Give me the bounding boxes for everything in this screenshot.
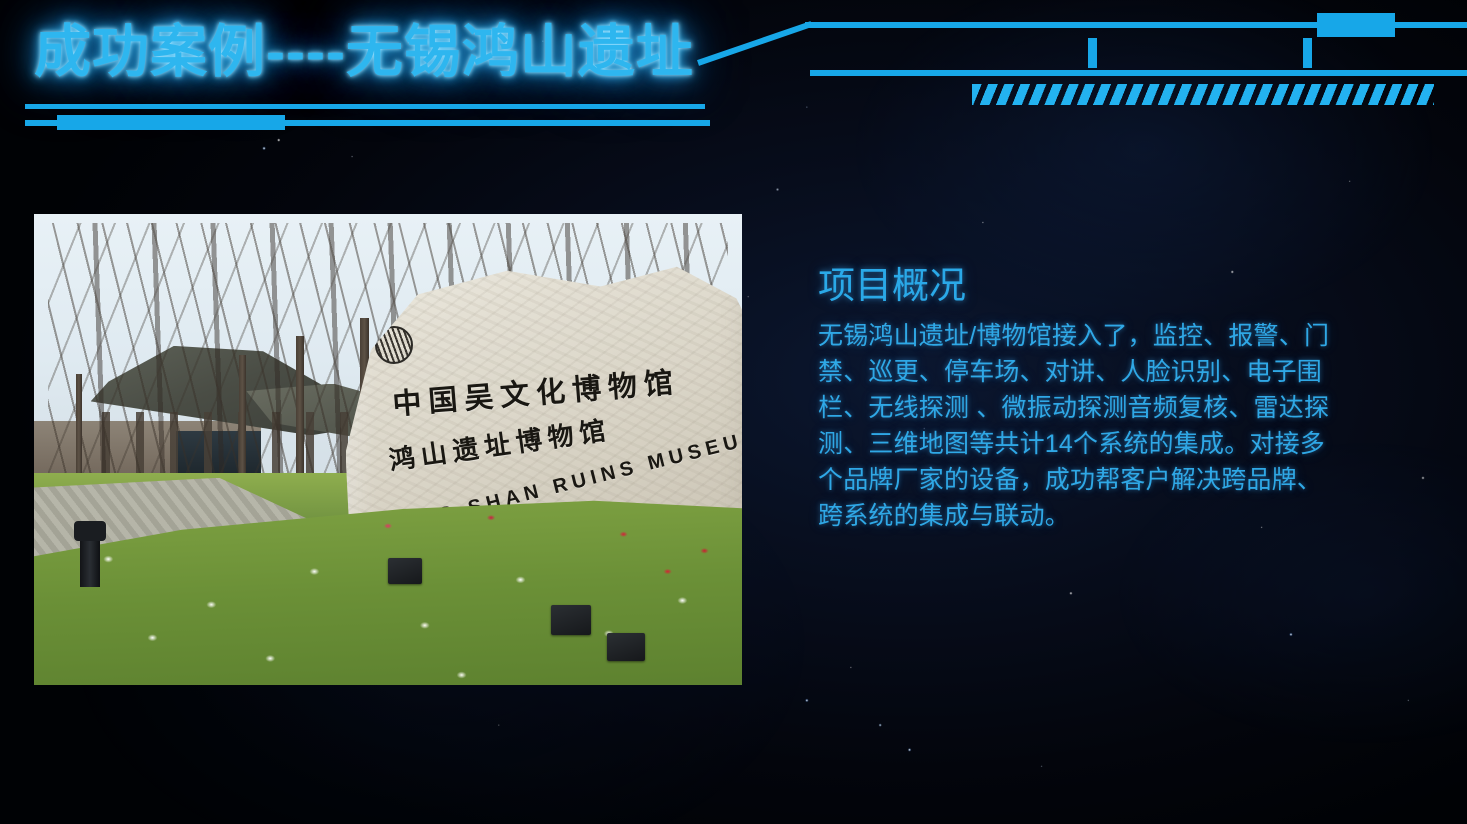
header-tick-mark-2: [1303, 38, 1312, 68]
photo-ground-speaker: [551, 605, 591, 635]
panel-body-text: 无锡鸿山遗址/博物馆接入了，监控、报警、门禁、巡更、停车场、对讲、人脸识别、电子…: [818, 318, 1338, 534]
header-tick-mark-1: [1088, 38, 1097, 68]
header-hatch-bar: [972, 84, 1434, 105]
photo-ground-speaker: [388, 558, 422, 584]
page-title: 成功案例----无锡鸿山遗址: [34, 20, 694, 84]
slide-header: 成功案例----无锡鸿山遗址: [0, 0, 1467, 140]
header-rule-left-top: [25, 104, 705, 109]
header-diagonal-connector: [697, 21, 812, 66]
header-solid-block: [1317, 13, 1395, 37]
project-overview-panel: 项目概况 无锡鸿山遗址/博物馆接入了，监控、报警、门禁、巡更、停车场、对讲、人脸…: [818, 262, 1338, 534]
slide-root: 成功案例----无锡鸿山遗址 中国吴文化博物馆 鸿山: [0, 0, 1467, 824]
header-rule-right-top-tail: [1395, 22, 1467, 28]
header-rule-right-top: [805, 22, 1317, 28]
header-rule-right-bottom: [810, 70, 1467, 76]
photo-garden-lamp: [80, 525, 100, 587]
photo-ground-speaker: [607, 633, 645, 661]
header-thick-segment: [57, 115, 285, 130]
project-photo: 中国吴文化博物馆 鸿山遗址博物馆 HONG SHAN RUINS MUSEUM: [34, 214, 742, 685]
panel-heading: 项目概况: [818, 262, 1338, 310]
